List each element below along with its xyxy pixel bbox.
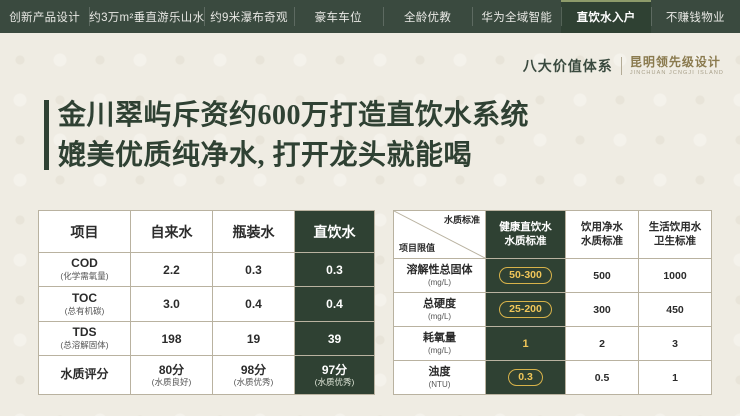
score-wrap: 80分(水质良好) — [133, 363, 210, 388]
col-header-line2: 卫生标准 — [654, 235, 696, 247]
highlight-value: 1 — [522, 338, 528, 350]
cell-score-bottled: 98分(水质优秀) — [213, 356, 295, 395]
row-label-score: 水质评分 — [39, 356, 131, 395]
cell-cod-bottled: 0.3 — [213, 253, 295, 287]
table-header-row: 水质标准 项目限值 健康直饮水 水质标准 饮用净水 水质标准 生活饮用水 卫生标… — [394, 211, 712, 259]
nav-item-label: 约3万m²垂直游乐山水 — [89, 9, 204, 25]
col-header-line1: 健康直饮水 — [499, 221, 552, 233]
col-header-bottled: 瓶装水 — [213, 211, 295, 253]
col-header-healthy-direct: 健康直饮水 水质标准 — [486, 211, 566, 259]
col-header-tap: 自来水 — [131, 211, 213, 253]
row-label-toc: TOC(总有机碳) — [39, 287, 131, 321]
nav-item-label: 创新产品设计 — [9, 9, 80, 25]
table-row: 溶解性总固体(mg/L) 50-300 500 1000 — [394, 259, 712, 293]
row-label-text: 耗氧量 — [423, 332, 456, 344]
cell-tds-tap: 198 — [131, 321, 213, 355]
cell-hardness-purified: 300 — [566, 293, 639, 327]
cell-hardness-healthy: 25-200 — [486, 293, 566, 327]
row-label-tds-solids: 溶解性总固体(mg/L) — [394, 259, 486, 293]
col-header-line1: 饮用净水 — [581, 221, 623, 233]
nav-item-7[interactable]: 不赚钱物业 — [651, 0, 740, 33]
table-row: TDS(总溶解固体) 198 19 39 — [39, 321, 375, 355]
brand-divider — [621, 57, 622, 75]
nav-item-6-active[interactable]: 直饮水入户 — [561, 0, 650, 33]
water-comparison-table: 项目 自来水 瓶装水 直饮水 COD(化学需氧量) 2.2 0.3 0.3 TO… — [38, 210, 375, 395]
cell-tds-bottled: 19 — [213, 321, 295, 355]
row-label-text: 溶解性总固体 — [407, 264, 473, 276]
headline-line-1: 金川翠屿斥资约600万打造直饮水系统 — [58, 96, 529, 136]
cell-oxygen-purified: 2 — [566, 327, 639, 361]
row-label-tds: TDS(总溶解固体) — [39, 321, 131, 355]
row-label-cod: COD(化学需氧量) — [39, 253, 131, 287]
row-label-turbidity: 浊度(NTU) — [394, 361, 486, 395]
nav-item-3[interactable]: 豪车车位 — [294, 0, 383, 33]
tables-row: 项目 自来水 瓶装水 直饮水 COD(化学需氧量) 2.2 0.3 0.3 TO… — [38, 210, 716, 395]
cell-oxygen-healthy: 1 — [486, 327, 566, 361]
row-label-oxygen: 耗氧量(mg/L) — [394, 327, 486, 361]
nav-item-1[interactable]: 约3万m²垂直游乐山水 — [89, 0, 204, 33]
table-row: 总硬度(mg/L) 25-200 300 450 — [394, 293, 712, 327]
highlight-pill: 0.3 — [508, 369, 543, 387]
cell-hardness-domestic: 450 — [639, 293, 712, 327]
water-standards-table: 水质标准 项目限值 健康直饮水 水质标准 饮用净水 水质标准 生活饮用水 卫生标… — [393, 210, 712, 395]
nav-item-label: 华为全域智能 — [481, 9, 552, 25]
score-sub: (水质良好) — [133, 378, 210, 387]
corner-header-cell: 水质标准 项目限值 — [394, 211, 486, 259]
row-label-sub: (总溶解固体) — [41, 341, 128, 351]
col-header-purified: 饮用净水 水质标准 — [566, 211, 639, 259]
table-row: TOC(总有机碳) 3.0 0.4 0.4 — [39, 287, 375, 321]
top-navigation: 创新产品设计 约3万m²垂直游乐山水 约9米瀑布奇观 豪车车位 全龄优教 华为全… — [0, 0, 740, 33]
brand-left-text: 八大价值体系 — [523, 56, 613, 76]
row-label-text: 水质评分 — [60, 367, 108, 381]
nav-item-0[interactable]: 创新产品设计 — [0, 0, 89, 33]
col-header-line1: 生活饮用水 — [649, 221, 702, 233]
brand-right: 昆明领先级设计 JINCHUAN JCNGJI ISLAND — [630, 56, 724, 76]
highlight-pill: 50-300 — [499, 267, 552, 285]
cell-tds-direct: 39 — [295, 321, 375, 355]
row-label-text: 总硬度 — [423, 298, 456, 310]
score-value: 98分 — [241, 363, 266, 377]
col-header-domestic: 生活饮用水 卫生标准 — [639, 211, 712, 259]
nav-item-label: 全龄优教 — [404, 9, 451, 25]
col-header-item: 项目 — [39, 211, 131, 253]
cell-cod-direct: 0.3 — [295, 253, 375, 287]
cell-cod-tap: 2.2 — [131, 253, 213, 287]
nav-item-label: 不赚钱物业 — [666, 9, 725, 25]
table-header-row: 项目 自来水 瓶装水 直饮水 — [39, 211, 375, 253]
score-wrap: 98分(水质优秀) — [215, 363, 292, 388]
corner-bottom-label: 项目限值 — [399, 243, 435, 254]
cell-tds-healthy: 50-300 — [486, 259, 566, 293]
score-sub: (水质优秀) — [215, 378, 292, 387]
row-label-text: TOC — [72, 291, 97, 305]
headline-line-2: 媲美优质纯净水, 打开龙头就能喝 — [58, 136, 529, 176]
headline-block: 金川翠屿斥资约600万打造直饮水系统 媲美优质纯净水, 打开龙头就能喝 — [44, 96, 529, 176]
cell-turbidity-domestic: 1 — [639, 361, 712, 395]
cell-turbidity-purified: 0.5 — [566, 361, 639, 395]
nav-item-2[interactable]: 约9米瀑布奇观 — [204, 0, 293, 33]
table-row: 水质评分 80分(水质良好) 98分(水质优秀) 97分(水质优秀) — [39, 356, 375, 395]
highlight-pill: 25-200 — [499, 301, 552, 319]
col-header-line2: 水质标准 — [505, 235, 547, 247]
row-label-sub: (总有机碳) — [41, 307, 128, 317]
score-value: 80分 — [159, 363, 184, 377]
brand-block: 八大价值体系 昆明领先级设计 JINCHUAN JCNGJI ISLAND — [523, 56, 724, 76]
corner-top-label: 水质标准 — [444, 215, 480, 226]
nav-item-4[interactable]: 全龄优教 — [383, 0, 472, 33]
table-row: 浊度(NTU) 0.3 0.5 1 — [394, 361, 712, 395]
cell-toc-tap: 3.0 — [131, 287, 213, 321]
row-label-hardness: 总硬度(mg/L) — [394, 293, 486, 327]
col-header-line2: 水质标准 — [581, 235, 623, 247]
brand-cn-text: 昆明领先级设计 — [630, 56, 724, 69]
nav-item-5[interactable]: 华为全域智能 — [472, 0, 561, 33]
row-label-sub: (化学需氧量) — [41, 272, 128, 282]
brand-en-text: JINCHUAN JCNGJI ISLAND — [630, 71, 724, 77]
row-label-sub: (mg/L) — [396, 278, 483, 287]
cell-tds-purified: 500 — [566, 259, 639, 293]
row-label-sub: (mg/L) — [396, 312, 483, 321]
row-label-text: TDS — [73, 325, 97, 339]
table-row: 耗氧量(mg/L) 1 2 3 — [394, 327, 712, 361]
slide-root: 创新产品设计 约3万m²垂直游乐山水 约9米瀑布奇观 豪车车位 全龄优教 华为全… — [0, 0, 740, 416]
table-row: COD(化学需氧量) 2.2 0.3 0.3 — [39, 253, 375, 287]
row-label-text: COD — [71, 256, 98, 270]
nav-item-label: 约9米瀑布奇观 — [210, 9, 288, 25]
cell-turbidity-healthy: 0.3 — [486, 361, 566, 395]
row-label-sub: (NTU) — [396, 380, 483, 389]
row-label-sub: (mg/L) — [396, 346, 483, 355]
cell-toc-direct: 0.4 — [295, 287, 375, 321]
nav-item-label: 直饮水入户 — [577, 9, 636, 25]
col-header-direct: 直饮水 — [295, 211, 375, 253]
cell-toc-bottled: 0.4 — [213, 287, 295, 321]
cell-score-tap: 80分(水质良好) — [131, 356, 213, 395]
score-wrap: 97分(水质优秀) — [297, 363, 372, 388]
nav-item-label: 豪车车位 — [315, 9, 362, 25]
row-label-text: 浊度 — [429, 366, 451, 378]
cell-score-direct: 97分(水质优秀) — [295, 356, 375, 395]
cell-oxygen-domestic: 3 — [639, 327, 712, 361]
score-value: 97分 — [322, 363, 347, 377]
score-sub: (水质优秀) — [297, 378, 372, 387]
cell-tds-domestic: 1000 — [639, 259, 712, 293]
